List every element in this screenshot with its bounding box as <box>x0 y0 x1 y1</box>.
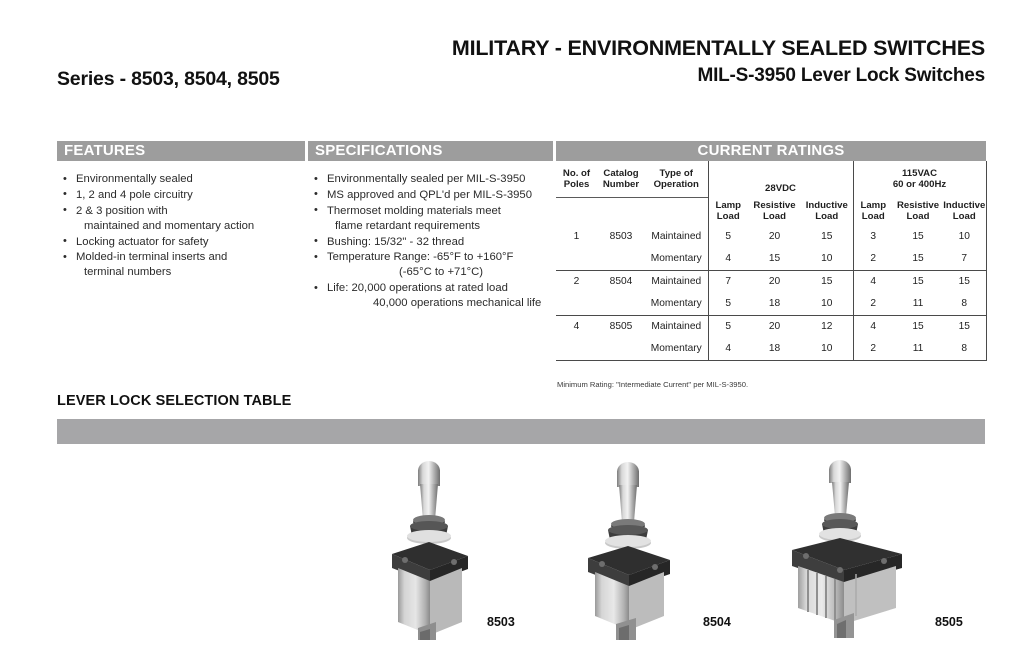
table-cell-dc_lamp: 5 <box>708 293 748 316</box>
table-cell-ac_lamp: 2 <box>853 293 893 316</box>
table-cell-ac_resistive: 15 <box>893 225 943 248</box>
table-cell-dc_inductive: 15 <box>801 270 853 293</box>
page-subtitle: MIL-S-3950 Lever Lock Switches <box>452 65 985 88</box>
table-cell-ac_inductive: 8 <box>943 293 986 316</box>
table-cell-dc_inductive: 10 <box>801 293 853 316</box>
table-row: 48505Maintained5201241515 <box>556 315 986 338</box>
table-cell-ac_inductive: 7 <box>943 248 986 271</box>
table-cell-dc_resistive: 20 <box>748 315 801 338</box>
table-cell-dc_lamp: 4 <box>708 338 748 361</box>
table-cell-catalog: 8504 <box>597 270 645 293</box>
table-cell-ac_lamp: 2 <box>853 338 893 361</box>
list-item: Life: 20,000 operations at rated load <box>313 281 563 296</box>
table-row: Momentary518102118 <box>556 293 986 316</box>
lever-lock-selection-bar <box>57 419 985 444</box>
features-list: Environmentally sealed1, 2 and 4 pole ci… <box>62 172 307 281</box>
col-header-type-of-operation: Type of Operation <box>645 161 708 197</box>
table-cell-poles: 2 <box>556 270 597 293</box>
list-item: Temperature Range: -65°F to +160°F <box>313 250 563 265</box>
table-cell-dc_resistive: 18 <box>748 293 801 316</box>
table-cell-ac_inductive: 10 <box>943 225 986 248</box>
table-row: Momentary418102118 <box>556 338 986 361</box>
table-cell-operation: Maintained <box>645 225 708 248</box>
product-image-8503 <box>372 450 542 640</box>
list-item: Environmentally sealed <box>62 172 307 187</box>
table-cell-dc_resistive: 18 <box>748 338 801 361</box>
table-cell-ac_inductive: 8 <box>943 338 986 361</box>
specifications-list: Environmentally sealed per MIL-S-3950MS … <box>313 172 563 312</box>
series-label: Series - 8503, 8504, 8505 <box>57 68 280 91</box>
table-cell-operation: Momentary <box>645 248 708 271</box>
col-header-dc-resistive-load: Resistive Load <box>748 197 801 225</box>
table-cell-poles <box>556 293 597 316</box>
list-item: Molded-in terminal inserts and <box>62 250 307 265</box>
product-label-8505: 8505 <box>935 615 963 629</box>
current-ratings-table-body: 18503Maintained5201531510Momentary415102… <box>556 225 986 360</box>
current-ratings-section-header: CURRENT RATINGS <box>556 141 986 161</box>
list-item: (-65°C to +71°C) <box>313 265 563 280</box>
table-cell-ac_resistive: 15 <box>893 315 943 338</box>
table-row: Momentary415102157 <box>556 248 986 271</box>
col-header-catalog-number: Catalog Number <box>597 161 645 197</box>
table-cell-ac_lamp: 2 <box>853 248 893 271</box>
table-cell-poles: 4 <box>556 315 597 338</box>
list-item: 2 & 3 position with <box>62 204 307 219</box>
table-cell-poles: 1 <box>556 225 597 248</box>
col-header-poles: No. of Poles <box>556 161 597 197</box>
table-cell-ac_lamp: 3 <box>853 225 893 248</box>
list-item: Bushing: 15/32" - 32 thread <box>313 235 563 250</box>
table-cell-operation: Maintained <box>645 315 708 338</box>
table-cell-dc_resistive: 20 <box>748 225 801 248</box>
col-header-dc-inductive-load: Inductive Load <box>801 197 853 225</box>
table-cell-dc_inductive: 12 <box>801 315 853 338</box>
table-cell-ac_lamp: 4 <box>853 315 893 338</box>
table-cell-ac_lamp: 4 <box>853 270 893 293</box>
table-cell-catalog: 8505 <box>597 315 645 338</box>
table-cell-dc_lamp: 5 <box>708 225 748 248</box>
current-ratings-table: No. of Poles Catalog Number Type of Oper… <box>556 161 987 361</box>
table-cell-catalog <box>597 338 645 361</box>
table-header-sub-row: Lamp Load Resistive Load Inductive Load … <box>556 197 986 225</box>
page-title: MILITARY - ENVIRONMENTALLY SEALED SWITCH… <box>452 36 985 61</box>
spacer-catalog <box>597 197 645 225</box>
list-item: Locking actuator for safety <box>62 235 307 250</box>
col-header-dc-lamp-load: Lamp Load <box>708 197 748 225</box>
list-item: MS approved and QPL'd per MIL-S-3950 <box>313 188 563 203</box>
table-cell-ac_inductive: 15 <box>943 315 986 338</box>
table-cell-catalog <box>597 248 645 271</box>
ratings-table-footnote: Minimum Rating: "Intermediate Current" p… <box>557 380 748 389</box>
list-item: Thermoset molding materials meet <box>313 204 563 219</box>
col-header-ac-resistive-load: Resistive Load <box>893 197 943 225</box>
list-item: Environmentally sealed per MIL-S-3950 <box>313 172 563 187</box>
switch-8503-illustration <box>372 450 542 640</box>
list-item: flame retardant requirements <box>313 219 563 234</box>
table-cell-dc_lamp: 5 <box>708 315 748 338</box>
list-item: maintained and momentary action <box>62 219 307 234</box>
table-cell-poles <box>556 248 597 271</box>
specifications-section-header: SPECIFICATIONS <box>308 141 553 161</box>
table-cell-ac_resistive: 11 <box>893 338 943 361</box>
table-cell-dc_inductive: 10 <box>801 248 853 271</box>
table-cell-dc_lamp: 4 <box>708 248 748 271</box>
product-image-8505 <box>778 450 948 640</box>
table-cell-operation: Maintained <box>645 270 708 293</box>
table-cell-dc_inductive: 10 <box>801 338 853 361</box>
table-header-group-row: No. of Poles Catalog Number Type of Oper… <box>556 161 986 197</box>
table-cell-dc_lamp: 7 <box>708 270 748 293</box>
table-cell-dc_resistive: 15 <box>748 248 801 271</box>
col-header-group-28vdc: 28VDC <box>708 161 853 197</box>
table-cell-operation: Momentary <box>645 338 708 361</box>
product-label-8504: 8504 <box>703 615 731 629</box>
list-item: 40,000 operations mechanical life <box>313 296 563 311</box>
switch-8505-illustration <box>778 450 948 640</box>
table-cell-dc_resistive: 20 <box>748 270 801 293</box>
switch-8504-illustration <box>568 450 738 640</box>
product-label-8503: 8503 <box>487 615 515 629</box>
spacer-poles <box>556 197 597 225</box>
col-header-group-115vac: 115VAC 60 or 400Hz <box>853 161 986 197</box>
table-cell-catalog: 8503 <box>597 225 645 248</box>
product-image-8504 <box>568 450 738 640</box>
page-header: MILITARY - ENVIRONMENTALLY SEALED SWITCH… <box>0 0 1029 120</box>
table-cell-ac_resistive: 15 <box>893 248 943 271</box>
list-item: terminal numbers <box>62 265 307 280</box>
table-cell-catalog <box>597 293 645 316</box>
table-row: 28504Maintained7201541515 <box>556 270 986 293</box>
col-header-ac-lamp-load: Lamp Load <box>853 197 893 225</box>
table-cell-operation: Momentary <box>645 293 708 316</box>
table-cell-ac_resistive: 15 <box>893 270 943 293</box>
title-block: MILITARY - ENVIRONMENTALLY SEALED SWITCH… <box>452 36 985 88</box>
table-cell-ac_resistive: 11 <box>893 293 943 316</box>
spacer-type <box>645 197 708 225</box>
table-row: 18503Maintained5201531510 <box>556 225 986 248</box>
features-section-header: FEATURES <box>57 141 305 161</box>
table-cell-poles <box>556 338 597 361</box>
col-header-ac-inductive-load: Inductive Load <box>943 197 986 225</box>
list-item: 1, 2 and 4 pole circuitry <box>62 188 307 203</box>
lever-lock-selection-heading: LEVER LOCK SELECTION TABLE <box>57 393 291 409</box>
table-cell-ac_inductive: 15 <box>943 270 986 293</box>
table-cell-dc_inductive: 15 <box>801 225 853 248</box>
